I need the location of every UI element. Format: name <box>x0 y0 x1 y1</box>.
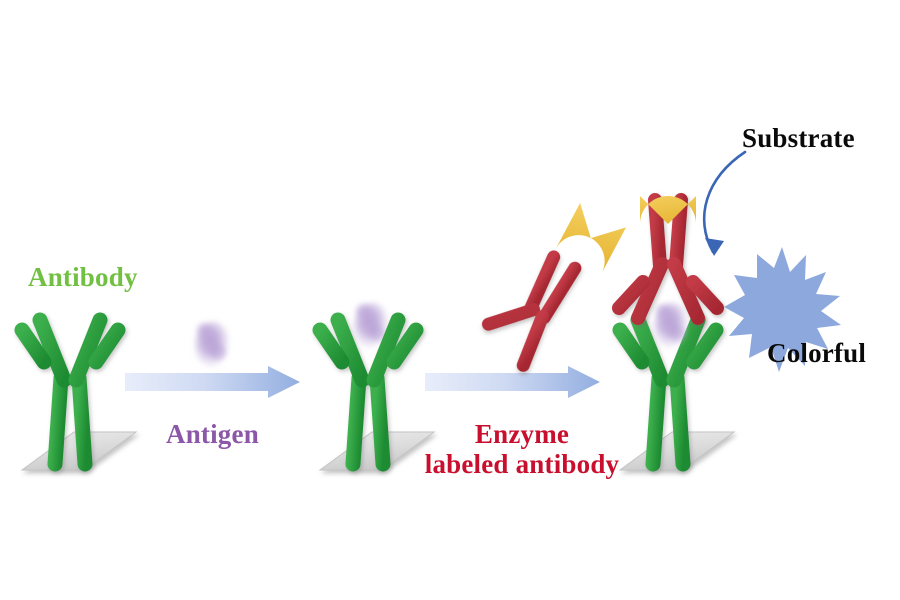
label-antigen: Antigen <box>166 419 259 449</box>
stage-1-capture-antibody <box>22 320 136 470</box>
label-enzyme-line-1: Enzyme <box>404 419 640 449</box>
transition-arrow-antigen <box>125 366 300 398</box>
transition-arrow-enzyme-antibody <box>425 366 600 398</box>
transition-arrow-substrate <box>704 152 745 256</box>
diagram-canvas <box>0 0 900 600</box>
label-enzyme-labeled-antibody: Enzyme labeled antibody <box>404 419 640 479</box>
elisa-diagram: Antibody Antigen Enzyme labeled antibody… <box>0 0 900 600</box>
label-antibody: Antibody <box>28 262 138 292</box>
label-substrate: Substrate <box>742 123 855 153</box>
antigen-particle-free <box>195 322 229 368</box>
enzyme-marker-free <box>556 203 626 273</box>
label-enzyme-line-2: labeled antibody <box>404 449 640 479</box>
label-colorful: Colorful <box>767 338 866 368</box>
detection-antibody-red-free <box>451 230 575 366</box>
enzyme-labeled-antibody-free <box>451 177 626 378</box>
